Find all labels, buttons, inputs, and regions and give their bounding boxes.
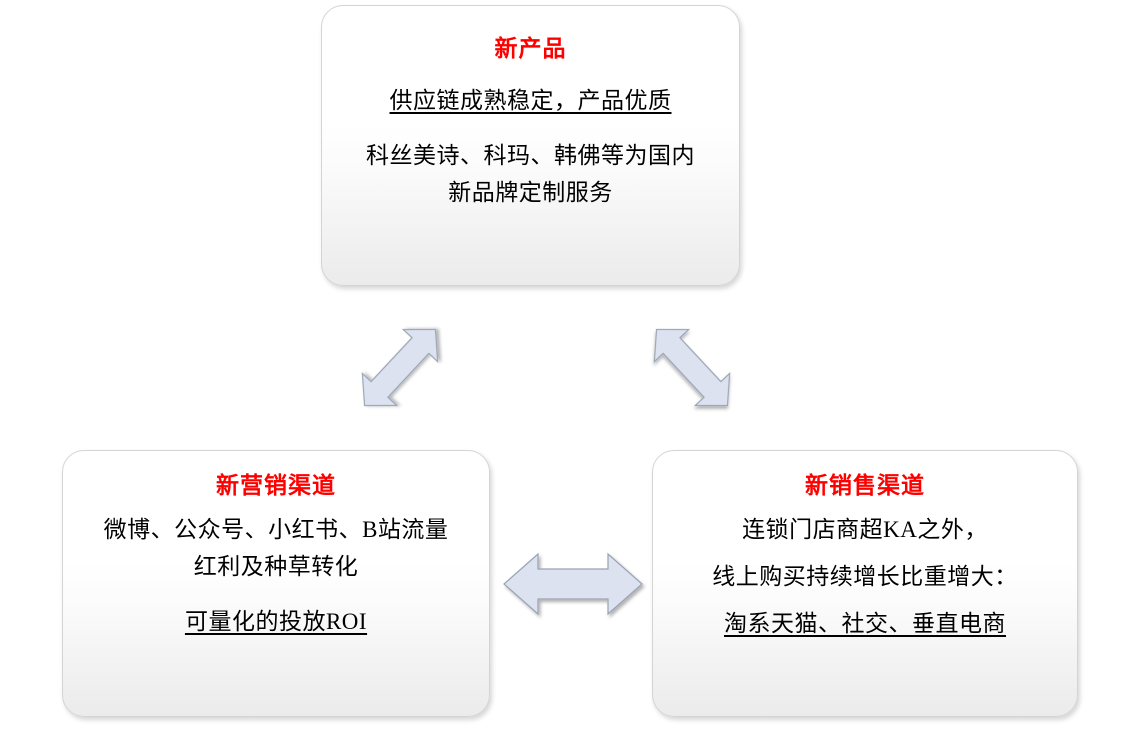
- node-new-product[interactable]: 新产品 供应链成熟稳定，产品优质 科丝美诗、科玛、韩佛等为国内 新品牌定制服务: [321, 5, 740, 286]
- diagram-canvas: 新产品 供应链成熟稳定，产品优质 科丝美诗、科玛、韩佛等为国内 新品牌定制服务 …: [0, 0, 1140, 730]
- double-arrow-icon-horizontal: [498, 546, 648, 622]
- node-new-marketing-channel-title: 新营销渠道: [216, 473, 336, 498]
- node-new-sales-channel-line-2: 线上购买持续增长比重增大：: [712, 563, 1018, 592]
- node-new-product-line-1: 供应链成熟稳定，产品优质: [390, 87, 672, 116]
- node-new-product-title: 新产品: [495, 36, 567, 61]
- node-new-marketing-channel-line-2: 红利及种草转化: [194, 553, 359, 582]
- double-arrow-icon-left-diagonal: [340, 300, 460, 435]
- double-arrow-icon-right-diagonal: [632, 300, 752, 435]
- node-new-sales-channel-line-1: 连锁门店商超KA之外，: [742, 516, 988, 545]
- node-new-marketing-channel-line-1: 微博、公众号、小红书、B站流量: [104, 516, 449, 545]
- node-new-sales-channel-title: 新销售渠道: [805, 473, 925, 498]
- node-new-product-line-2: 科丝美诗、科玛、韩佛等为国内: [366, 142, 695, 171]
- node-new-sales-channel[interactable]: 新销售渠道 连锁门店商超KA之外， 线上购买持续增长比重增大： 淘系天猫、社交、…: [652, 450, 1078, 717]
- node-new-product-line-3: 新品牌定制服务: [448, 179, 613, 208]
- node-new-marketing-channel[interactable]: 新营销渠道 微博、公众号、小红书、B站流量 红利及种草转化 可量化的投放ROI: [62, 450, 490, 717]
- node-new-marketing-channel-line-3: 可量化的投放ROI: [185, 608, 367, 637]
- node-new-sales-channel-line-3: 淘系天猫、社交、垂直电商: [724, 610, 1006, 639]
